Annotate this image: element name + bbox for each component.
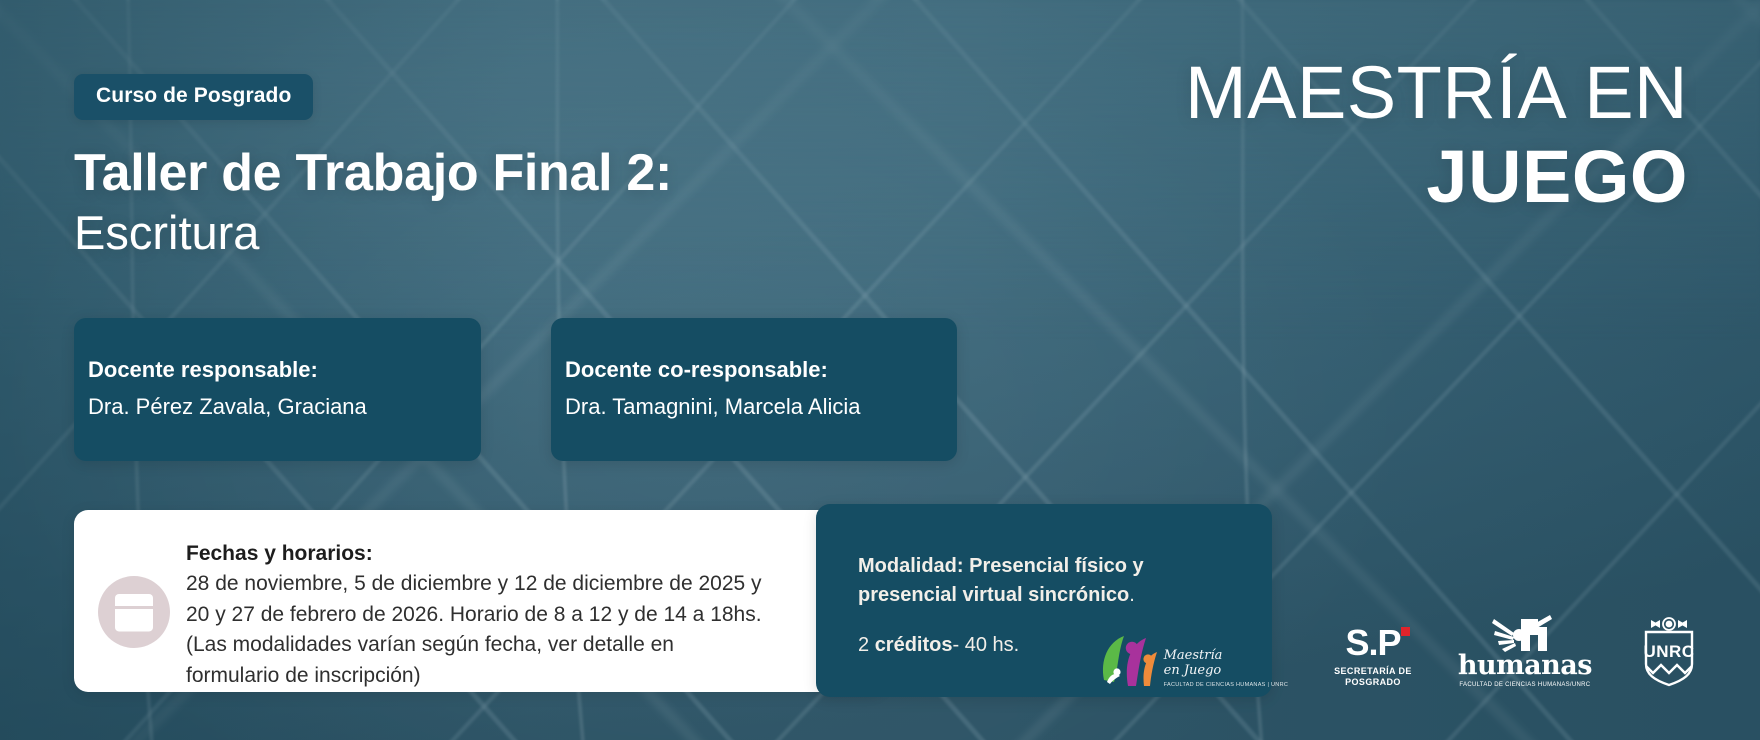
dates-text-block: Fechas y horarios: 28 de noviembre, 5 de… xyxy=(186,534,764,691)
program-name: MAESTRÍA EN JUEGO xyxy=(1185,56,1688,216)
mej-caption: FACULTAD DE CIENCIAS HUMANAS | UNRC xyxy=(1164,682,1289,688)
logo-strip: Maestría en Juego FACULTAD DE CIENCIAS H… xyxy=(1098,613,1700,688)
dates-card: Fechas y horarios: 28 de noviembre, 5 de… xyxy=(74,510,884,692)
modality-line: Modalidad: Presencial físico y presencia… xyxy=(858,552,1188,610)
mej-script-line1: Maestría xyxy=(1164,649,1289,664)
sp-mark: S.P xyxy=(1345,626,1400,660)
course-banner: Curso de Posgrado Taller de Trabajo Fina… xyxy=(0,0,1760,740)
humanas-logo: humanas FACULTAD DE CIENCIAS HUMANAS/UNR… xyxy=(1458,613,1592,688)
teacher-card-co-responsable: Docente co-responsable: Dra. Tamagnini, … xyxy=(551,318,957,461)
dates-body: 28 de noviembre, 5 de diciembre y 12 de … xyxy=(186,569,764,691)
teacher-role-label: Docente co-responsable: xyxy=(565,356,957,384)
teacher-name: Dra. Pérez Zavala, Graciana xyxy=(88,393,481,421)
program-name-line1: MAESTRÍA EN xyxy=(1185,56,1688,130)
page-title: Taller de Trabajo Final 2: Escritura xyxy=(74,145,672,260)
maestria-en-juego-logo: Maestría en Juego FACULTAD DE CIENCIAS H… xyxy=(1098,630,1289,688)
unrc-wordmark: UNRC xyxy=(1638,642,1700,662)
mej-script-line2: en Juego xyxy=(1164,664,1289,679)
calendar-icon xyxy=(98,576,170,648)
modality-period: . xyxy=(1129,584,1135,606)
credits-hours: - 40 hs. xyxy=(953,634,1020,656)
sp-mark-text: S.P xyxy=(1345,622,1400,663)
secretaria-de-posgrado-logo: S.P SECRETARÍA DE POSGRADO xyxy=(1334,626,1412,688)
humanas-caption: FACULTAD DE CIENCIAS HUMANAS/UNRC xyxy=(1459,682,1590,688)
teacher-card-responsable: Docente responsable: Dra. Pérez Zavala, … xyxy=(74,318,481,461)
title-sub-line: Escritura xyxy=(74,207,672,260)
teacher-name: Dra. Tamagnini, Marcela Alicia xyxy=(565,393,957,421)
sp-caption-line2: POSGRADO xyxy=(1334,677,1412,688)
program-name-line2: JUEGO xyxy=(1185,138,1688,216)
sp-caption-line1: SECRETARÍA DE xyxy=(1334,666,1412,677)
humanas-wordmark: humanas xyxy=(1458,653,1592,679)
credits-count: 2 xyxy=(858,634,869,656)
teacher-role-label: Docente responsable: xyxy=(88,356,481,384)
people-figures-icon xyxy=(1098,630,1160,688)
humanas-mark-icon xyxy=(1492,613,1558,653)
course-type-badge: Curso de Posgrado xyxy=(74,74,313,120)
title-main-line: Taller de Trabajo Final 2: xyxy=(74,145,672,201)
unrc-logo: UNRC xyxy=(1638,616,1700,688)
dates-title: Fechas y horarios: xyxy=(186,540,764,567)
teachers-group: Docente responsable: Dra. Pérez Zavala, … xyxy=(74,318,957,461)
modality-text: Modalidad: Presencial físico y presencia… xyxy=(858,555,1144,606)
sp-red-square-icon xyxy=(1401,627,1410,636)
credits-word: créditos xyxy=(875,634,953,656)
